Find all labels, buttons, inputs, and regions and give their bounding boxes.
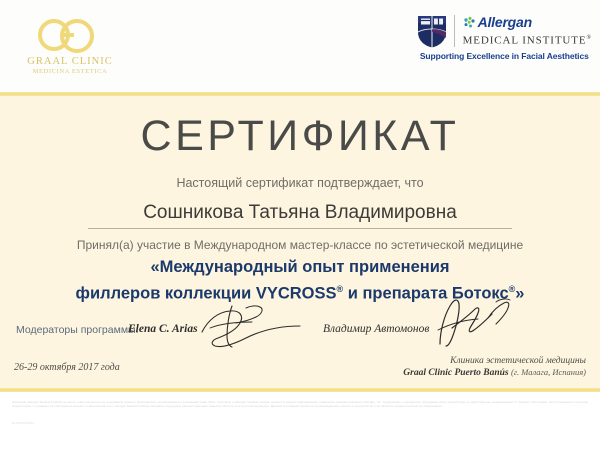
course-title-closing-quote: » <box>515 285 524 303</box>
clinic-name-line: Graal Clinic Puerto Banús (г. Малага, Ис… <box>403 367 586 378</box>
clinic-info: Клиника эстетической медицины Graal Clin… <box>403 356 586 378</box>
graal-clinic-subtitle: MEDICINA ESTETICA <box>22 68 118 75</box>
allergan-medical-institute-logo: Allergan MEDICAL INSTITUTE® Supporting E… <box>417 14 592 70</box>
allergan-tagline: Supporting Excellence in Facial Aestheti… <box>420 51 589 61</box>
moderator-name-1: Elena C. Arias <box>128 323 198 335</box>
graal-clinic-name: GRAAL CLINIC <box>22 56 118 67</box>
allergan-shield-icon <box>417 14 447 48</box>
gold-divider-bottom <box>0 388 600 392</box>
medical-institute-text: MEDICAL INSTITUTE® <box>463 31 592 48</box>
medical-institute-label: MEDICAL INSTITUTE <box>463 34 587 46</box>
allergan-swirl-icon <box>463 16 476 29</box>
legal-reference-code: RU/0570/2018a <box>12 421 34 425</box>
recipient-name-underline <box>88 228 512 229</box>
graal-clinic-logo: GRAAL CLINIC MEDICINA ESTETICA <box>22 16 118 78</box>
ring-stem-icon <box>60 33 74 37</box>
legal-fine-print: Компания Allergan Medical Institute не н… <box>12 400 588 409</box>
medical-institute-trademark: ® <box>587 35 592 41</box>
signature-vladimir-avtomonov-icon <box>430 296 516 348</box>
interlocking-rings-monogram-icon <box>22 16 118 56</box>
confirmation-line: Настоящий сертификат подтверждает, что <box>0 176 600 190</box>
allergan-brand-row: Allergan <box>463 15 592 30</box>
moderator-name-2: Владимир Автомонов <box>323 323 429 335</box>
recipient-name: Сошникова Татьяна Владимировна <box>0 202 600 224</box>
certificate: GRAAL CLINIC MEDICINA ESTETICA <box>0 0 600 450</box>
signature-elena-arias-icon <box>196 302 306 350</box>
clinic-type: Клиника эстетической медицины <box>403 356 586 366</box>
certificate-header: GRAAL CLINIC MEDICINA ESTETICA <box>0 0 600 92</box>
certificate-title: СЕРТИФИКАТ <box>0 112 600 161</box>
clinic-name: Graal Clinic Puerto Banús <box>403 368 508 378</box>
course-title-line-1: «Международный опыт применения <box>0 256 600 278</box>
allergan-wordmark: Allergan MEDICAL INSTITUTE® <box>463 15 592 48</box>
moderators-label: Модераторы программы: <box>16 324 139 336</box>
allergan-brand-text: Allergan <box>478 15 532 29</box>
course-title-fillers: филлеров коллекции VYCROSS <box>76 285 337 303</box>
certificate-body: СЕРТИФИКАТ Настоящий сертификат подтверж… <box>0 96 600 388</box>
clinic-location: (г. Малага, Испания) <box>511 367 586 377</box>
participation-line: Принял(а) участие в Международном мастер… <box>0 238 600 252</box>
certificate-date: 26-29 октября 2017 года <box>14 362 120 373</box>
allergan-logo-top-row: Allergan MEDICAL INSTITUTE® <box>417 14 592 48</box>
logo-divider <box>454 15 455 47</box>
